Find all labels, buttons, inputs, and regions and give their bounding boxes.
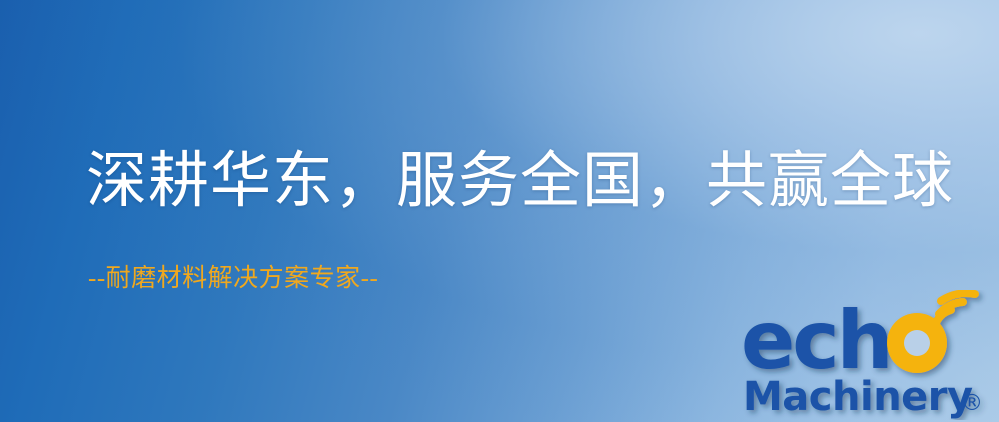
banner-subtitle: --耐磨材料解决方案专家-- (88, 265, 378, 293)
echo-signal-waves-icon (935, 293, 975, 326)
banner-headline: 深耕华东，服务全国，共赢全球 (86, 150, 954, 214)
logo-wordmark-group: ech (741, 293, 975, 387)
registered-trademark-icon: ® (961, 391, 983, 416)
echo-machinery-logo: ech Machinery ® (739, 290, 991, 420)
logo-tagline: Machinery (743, 374, 973, 420)
logo-tagline-group: Machinery ® (743, 374, 983, 420)
promo-banner: 深耕华东，服务全国，共赢全球 --耐磨材料解决方案专家-- ech (0, 0, 999, 422)
logo-artwork: ech Machinery ® (739, 290, 991, 420)
